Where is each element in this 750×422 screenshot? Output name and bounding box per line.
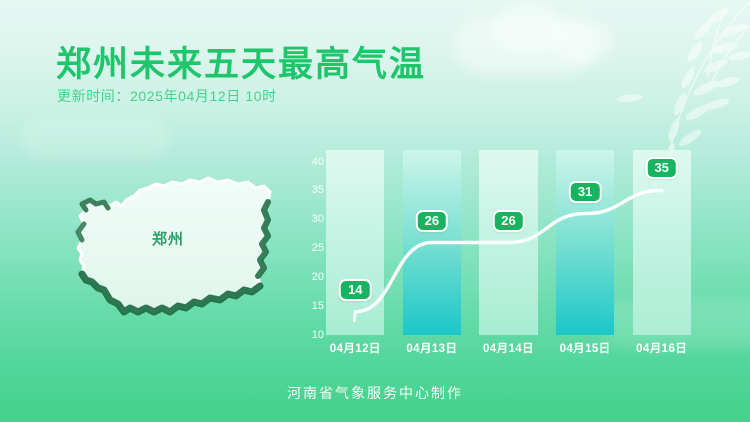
data-point-label: 26 (416, 210, 448, 232)
map-city-label: 郑州 (152, 228, 184, 249)
temperature-line-chart: 40353025201510 1426263135 04月12日04月13日04… (300, 150, 700, 360)
chart-bar (556, 150, 614, 335)
x-axis-tick-label: 04月13日 (394, 340, 471, 356)
chart-column (547, 150, 624, 335)
data-point-label: 14 (339, 279, 371, 301)
chart-x-axis: 04月12日04月13日04月14日04月15日04月16日 (317, 340, 700, 356)
chart-column (394, 150, 471, 335)
infographic-canvas: 郑州未来五天最高气温 更新时间：2025年04月12日 10时 郑州 40353… (0, 0, 750, 422)
x-axis-tick-label: 04月15日 (547, 340, 624, 356)
chart-column (470, 150, 547, 335)
chart-column (317, 150, 394, 335)
x-axis-tick-label: 04月14日 (470, 340, 547, 356)
chart-bar-backgrounds (317, 150, 700, 335)
x-axis-tick-label: 04月16日 (623, 340, 700, 356)
page-title: 郑州未来五天最高气温 (56, 36, 426, 87)
data-point-label: 35 (645, 157, 677, 179)
cloud-decoration (20, 118, 170, 158)
chart-bar (326, 150, 384, 335)
update-time-text: 更新时间：2025年04月12日 10时 (57, 86, 277, 106)
x-axis-tick-label: 04月12日 (317, 340, 394, 356)
footer-credit: 河南省气象服务中心制作 (0, 383, 750, 403)
willow-branch-decoration (600, 0, 750, 170)
data-point-label: 26 (492, 210, 524, 232)
chart-bar (403, 150, 461, 335)
chart-plot-area: 1426263135 (317, 150, 700, 335)
chart-bar (479, 150, 537, 335)
data-point-label: 31 (569, 181, 601, 203)
